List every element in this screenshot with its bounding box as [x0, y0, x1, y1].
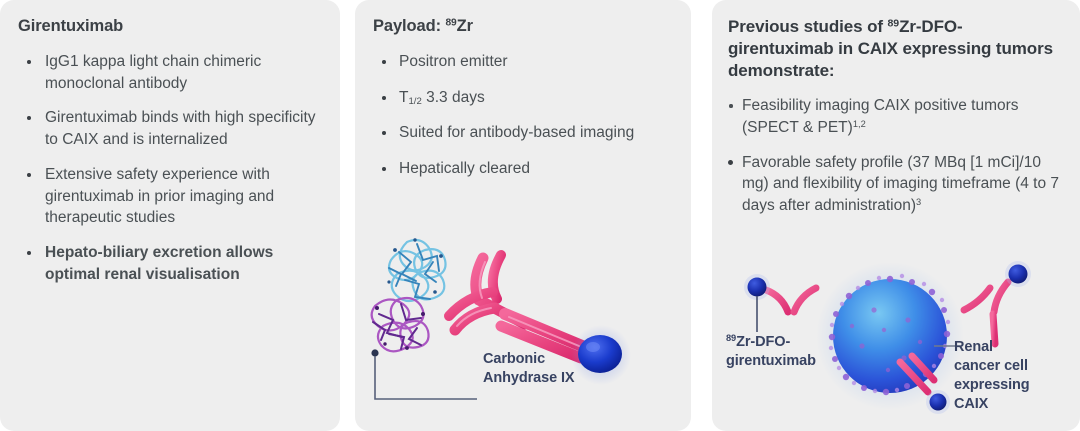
half-life-subscript: 1/2 — [408, 96, 421, 107]
citation-ref: 1,2 — [853, 119, 866, 129]
panel-payload: Payload: 89Zr Positron emitter T1/2 3.3 … — [355, 0, 691, 431]
zr-label-line-1: Zr-DFO- — [736, 334, 790, 350]
callout-line-2: Anhydrase IX — [483, 370, 574, 386]
payload-ball-left — [748, 278, 767, 297]
panel-3-title: Previous studies of 89Zr-DFO-girentuxima… — [728, 16, 1066, 82]
half-life-value: 3.3 days — [422, 89, 485, 106]
renal-cancer-cell-label: Renal cancer cell expressing CAIX — [954, 338, 1072, 413]
renal-cancer-cell-figure: 89Zr-DFO- girentuximab Renal cancer cell… — [712, 258, 1080, 431]
list-item: IgG1 kappa light chain chimeric monoclon… — [18, 51, 322, 94]
renal-label-line-4: CAIX — [954, 396, 988, 412]
panel-2-bullet-list: Positron emitter T1/2 3.3 days Suited fo… — [373, 51, 675, 180]
renal-label-line-1: Renal — [954, 339, 993, 355]
list-item: Extensive safety experience with girentu… — [18, 164, 322, 229]
slide-root: Girentuximab IgG1 kappa light chain chim… — [0, 0, 1080, 431]
list-item: Favorable safety profile (37 MBq [1 mCi]… — [728, 152, 1066, 217]
list-item: Feasibility imaging CAIX positive tumors… — [728, 95, 1066, 138]
panel-3-title-part1: Previous studies of — [728, 17, 888, 36]
panel-1-title: Girentuximab — [18, 16, 322, 37]
carbonic-anhydrase-callout-label: Carbonic Anhydrase IX — [483, 350, 633, 388]
callout-line-1: Carbonic — [483, 351, 545, 367]
zr-dfo-girentuximab-label: 89Zr-DFO- girentuximab — [726, 333, 856, 371]
list-item: Hepato-biliary excretion allows optimal … — [18, 242, 322, 285]
antibody-right — [964, 261, 1031, 344]
citation-ref: 3 — [916, 197, 921, 207]
list-item-text: Favorable safety profile (37 MBq [1 mCi]… — [742, 154, 1059, 214]
panel-1-bullet-list: IgG1 kappa light chain chimeric monoclon… — [18, 51, 322, 285]
panel-girentuximab: Girentuximab IgG1 kappa light chain chim… — [0, 0, 340, 431]
list-item-text: Feasibility imaging CAIX positive tumors… — [742, 97, 1019, 136]
renal-label-line-3: expressing — [954, 377, 1030, 393]
antibody-carbonic-anhydrase-figure: Carbonic Anhydrase IX — [355, 222, 691, 431]
payload-ball-right — [1009, 265, 1028, 284]
carbonic-anhydrase-protein-ribbon — [372, 238, 446, 351]
antibody-diagram-svg — [355, 222, 691, 431]
antibody-pink-shape — [449, 255, 587, 358]
zr-label-superscript: 89 — [726, 333, 736, 343]
panel-3-bullet-list: Feasibility imaging CAIX positive tumors… — [728, 95, 1066, 216]
list-item: Positron emitter — [373, 51, 675, 73]
renal-label-line-2: cancer cell — [954, 358, 1028, 374]
panel-2-title-suffix: Zr — [457, 17, 473, 35]
list-item: Suited for antibody-based imaging — [373, 122, 675, 144]
zr-label-line-2: girentuximab — [726, 353, 816, 369]
list-item: Girentuximab binds with high specificity… — [18, 107, 322, 150]
panel-2-title-superscript: 89 — [445, 18, 456, 29]
panel-2-title: Payload: 89Zr — [373, 16, 675, 37]
list-item-half-life: T1/2 3.3 days — [373, 87, 675, 109]
payload-ball-bottom — [930, 394, 947, 411]
panel-3-title-superscript: 89 — [888, 18, 900, 30]
panel-2-title-prefix: Payload: — [373, 17, 445, 35]
callout-leader-line — [371, 349, 477, 399]
panel-previous-studies: Previous studies of 89Zr-DFO-girentuxima… — [712, 0, 1080, 431]
list-item: Hepatically cleared — [373, 158, 675, 180]
